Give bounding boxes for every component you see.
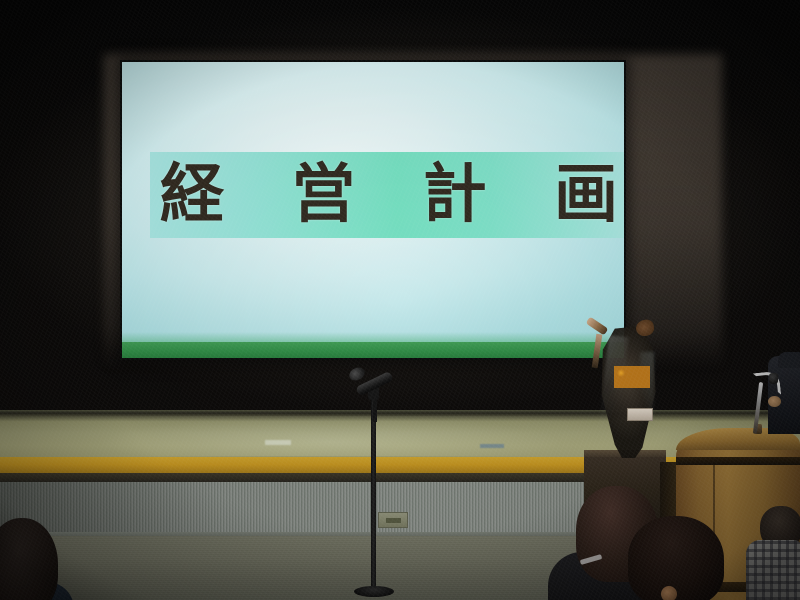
slide-title: 経 営 計 画: [150, 150, 624, 240]
stage-floor-object: [480, 444, 504, 448]
bouquet-flowers: [614, 366, 650, 388]
photo-scene: 経 営 計 画: [0, 0, 800, 600]
microphone-stand-pole: [371, 400, 376, 590]
stage-floor-tape-mark: [265, 440, 291, 445]
floor-outlet-plate: [378, 512, 408, 528]
microphone-stand-base: [354, 586, 394, 597]
slide-title-char-1: 経: [160, 163, 224, 227]
gooseneck-mic-capsule: [769, 373, 778, 384]
presentation-slide: 経 営 計 画: [122, 62, 624, 358]
audience-ear-right: [661, 586, 677, 600]
slide-footer-gradient: [122, 332, 624, 342]
speaker-hand: [768, 396, 781, 407]
bouquet-message-card: [627, 408, 653, 421]
lectern-shadow-reveal: [676, 457, 800, 465]
slide-footer-strip: [122, 342, 624, 358]
audience-head-right: [628, 516, 724, 600]
slide-title-char-2: 営: [291, 163, 355, 227]
slide-title-char-4: 画: [554, 163, 618, 227]
audience-plaid-shirt: [746, 540, 800, 600]
slide-title-char-3: 計: [423, 163, 487, 227]
speaker-shoulder: [778, 352, 800, 368]
projection-screen: 経 営 計 画: [120, 60, 626, 360]
